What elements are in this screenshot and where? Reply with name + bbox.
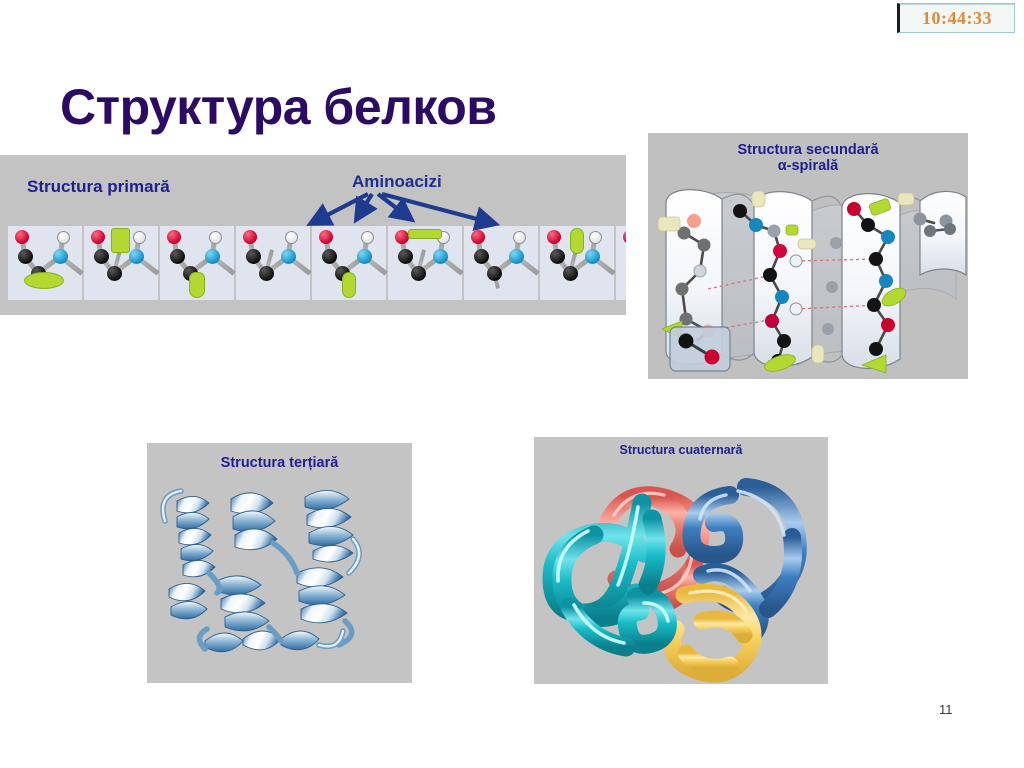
- atom-oxygen: [167, 230, 181, 244]
- atom-oxygen: [547, 230, 561, 244]
- figure-quaternary-structure: Structura cuaternară: [534, 437, 828, 684]
- figure-secondary-structure: Structura secundară α-spirală: [648, 133, 968, 379]
- aminoacizi-arrow-1: [310, 194, 368, 224]
- amino-acid-residue: [84, 226, 160, 300]
- atom-oxygen: [471, 230, 485, 244]
- amino-acid-residue: [388, 226, 464, 300]
- atom-alpha-carbon: [563, 266, 578, 281]
- atom-nitrogen: [509, 249, 524, 264]
- aminoacizi-label: Aminoacizi: [352, 172, 442, 192]
- atom-hydrogen: [57, 231, 70, 244]
- caption-tertiary-structure: Structura terțiară: [147, 455, 412, 471]
- amino-acid-residue: [540, 226, 616, 300]
- caption-secondary-structure: Structura secundară α-spirală: [648, 142, 968, 174]
- amino-acid-residue: [236, 226, 312, 300]
- alpha-helix-illustration: [648, 179, 968, 379]
- figure-tertiary-structure: Structura terțiară: [147, 443, 412, 683]
- caption-quaternary-structure: Structura cuaternară: [534, 443, 828, 457]
- amino-acid-residue: [464, 226, 540, 300]
- helix-bundle-4: [217, 576, 269, 631]
- atom-hydrogen: [513, 231, 526, 244]
- sidechain-marker-6: [786, 225, 798, 235]
- atom-hydrogen: [285, 231, 298, 244]
- page-title: Структура белков: [60, 78, 497, 136]
- atom-nitrogen: [53, 249, 68, 264]
- caption-secondary-line2: α-spirală: [648, 158, 968, 174]
- atom-nitrogen: [585, 249, 600, 264]
- helix-bundle-3: [305, 490, 353, 561]
- atom-nitrogen: [129, 249, 144, 264]
- atom-carbon: [550, 249, 565, 264]
- sidechain-group: [111, 228, 130, 253]
- atom-hydrogen: [589, 231, 602, 244]
- atom-alpha-carbon: [487, 266, 502, 281]
- atom-nitrogen: [281, 249, 296, 264]
- atom-carbon: [94, 249, 109, 264]
- atom-carbon: [170, 249, 185, 264]
- caption-primary-structure: Structura primară: [0, 177, 170, 196]
- atom-nitrogen: [205, 249, 220, 264]
- atom-alpha-carbon: [411, 266, 426, 281]
- atom-hydrogen: [209, 231, 222, 244]
- sidechain-group: [342, 272, 356, 298]
- amino-acid-residue: [160, 226, 236, 300]
- sidechain-group: [24, 272, 64, 289]
- atom-carbon: [626, 249, 627, 264]
- atom-carbon: [322, 249, 337, 264]
- tertiary-ribbon-illustration: [147, 473, 412, 683]
- atom-carbon: [246, 249, 261, 264]
- atom-hydrogen: [133, 231, 146, 244]
- atom-oxygen: [623, 230, 626, 244]
- sidechain-group: [570, 228, 584, 254]
- aminoacizi-arrow-group: [300, 190, 560, 232]
- atom-carbon: [474, 249, 489, 264]
- atom-oxygen: [91, 230, 105, 244]
- helix-bundle-1: [177, 496, 215, 576]
- atom-alpha-carbon: [259, 266, 274, 281]
- page-number: 11: [939, 702, 953, 717]
- sidechain-group: [189, 272, 205, 298]
- quaternary-subunits-illustration: [534, 459, 828, 684]
- clock-widget: 10:44:33: [897, 3, 1015, 33]
- clock-time: 10:44:33: [922, 8, 992, 29]
- helix-bundle-6: [205, 631, 319, 652]
- primary-structure-chain: [8, 226, 620, 300]
- atom-nitrogen: [357, 249, 372, 264]
- helix-bundle-7: [169, 583, 207, 618]
- atom-hydrogen: [361, 231, 374, 244]
- atom-oxygen: [319, 230, 333, 244]
- caption-secondary-line1: Structura secundară: [648, 142, 968, 158]
- atom-oxygen: [243, 230, 257, 244]
- atom-alpha-carbon: [107, 266, 122, 281]
- helix-bundle-2: [231, 493, 277, 550]
- atom-carbon: [18, 249, 33, 264]
- atom-carbon: [398, 249, 413, 264]
- helix-bundle-5: [297, 568, 347, 623]
- atom-oxygen: [15, 230, 29, 244]
- atom-oxygen: [395, 230, 409, 244]
- figure-primary-structure: Structura primară: [0, 155, 626, 315]
- amino-acid-residue: [312, 226, 388, 300]
- amino-acid-residue: [616, 226, 626, 300]
- atom-nitrogen: [433, 249, 448, 264]
- amino-acid-residue: [8, 226, 84, 300]
